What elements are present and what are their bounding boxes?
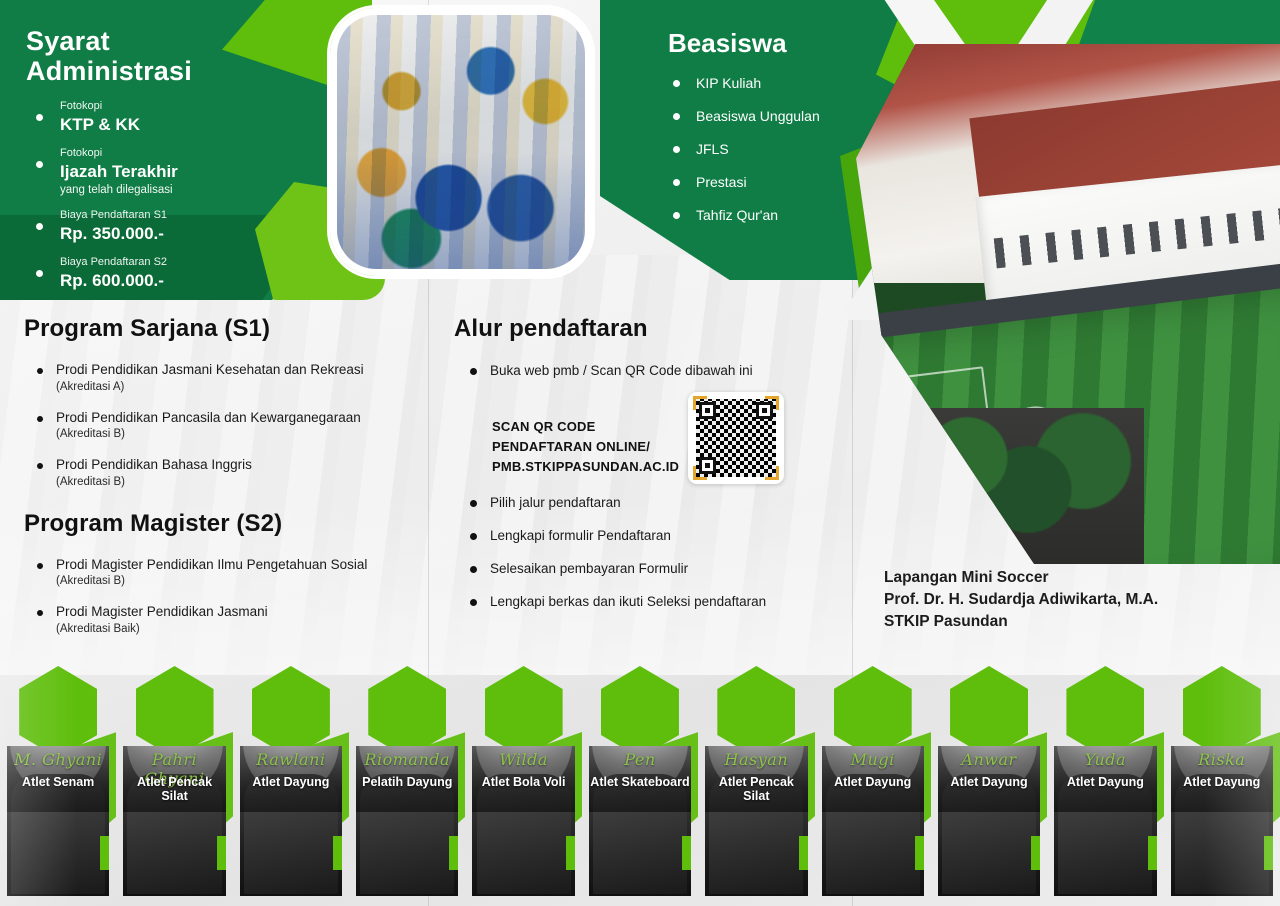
prodi-akreditasi: (Akreditasi Baik) [56, 623, 434, 635]
athlete-card: Rawlani Atlet Dayung [233, 660, 349, 906]
green-side-bar [333, 836, 342, 870]
athlete-photo: Pahri Ghyani Atlet Pencak Silat [123, 746, 225, 896]
list-item: Fotokopi KTP & KK [26, 100, 316, 136]
qr-bracket-top-left [693, 396, 707, 410]
athlete-photo: Riska Atlet Dayung [1171, 746, 1273, 896]
syarat-title: Syarat Administrasi [26, 26, 316, 86]
prodi-name: Prodi Magister Pendidikan Ilmu Pengetahu… [56, 556, 434, 574]
athlete-name: M. Ghyani [7, 750, 109, 769]
qr-label-line1: SCAN QR CODE [492, 417, 702, 437]
qr-label: SCAN QR CODE PENDAFTARAN ONLINE/ PMB.STK… [492, 417, 702, 476]
field-caption-line1: Lapangan Mini Soccer [884, 567, 1244, 589]
athlete-card: Pen Atlet Skateboard [582, 660, 698, 906]
alur-first-step-list: Buka web pmb / Scan QR Code dibawah ini [454, 363, 854, 378]
athlete-role: Atlet Pencak Silat [123, 775, 225, 803]
athlete-name: Mugi [822, 750, 924, 769]
qr-code-image[interactable] [688, 392, 784, 484]
syarat-item-note: yang telah dilegalisasi [60, 183, 316, 198]
list-item: Prodi Magister Pendidikan Ilmu Pengetahu… [24, 556, 434, 588]
list-item: Lengkapi berkas dan ikuti Seleksi pendaf… [454, 594, 854, 609]
prodi-akreditasi: (Akreditasi B) [56, 476, 434, 488]
athletes-collage-photo [330, 8, 592, 276]
athlete-photo: Wilda Atlet Bola Voli [472, 746, 574, 896]
alur-title: Alur pendaftaran [454, 315, 854, 343]
field-caption-line3: STKIP Pasundan [884, 611, 1244, 633]
athlete-card: Wilda Atlet Bola Voli [465, 660, 581, 906]
athlete-role: Atlet Senam [7, 775, 109, 789]
qr-label-line3: PMB.STKIPPASUNDAN.AC.ID [492, 457, 702, 477]
syarat-item-value: Rp. 350.000.- [60, 223, 316, 245]
syarat-list: Fotokopi KTP & KK Fotokopi Ijazah Terakh… [26, 100, 316, 291]
qr-bracket-bottom-right [765, 466, 779, 480]
athlete-name: Hasyan [705, 750, 807, 769]
green-side-bar [1148, 836, 1157, 870]
green-side-bar [682, 836, 691, 870]
athlete-card: Pahri Ghyani Atlet Pencak Silat [116, 660, 232, 906]
green-side-bar [566, 836, 575, 870]
athlete-photo: Anwar Atlet Dayung [938, 746, 1040, 896]
athlete-name: Wilda [472, 750, 574, 769]
athlete-name: Anwar [938, 750, 1040, 769]
list-item: Prodi Pendidikan Jasmani Kesehatan dan R… [24, 361, 434, 393]
athlete-card: Hasyan Atlet Pencak Silat [698, 660, 814, 906]
qr-bracket-top-right [765, 396, 779, 410]
syarat-item-value: Ijazah Terakhir [60, 161, 316, 183]
green-side-bar [217, 836, 226, 870]
list-item: Fotokopi Ijazah Terakhir yang telah dile… [26, 147, 316, 198]
prodi-name: Prodi Pendidikan Bahasa Inggris [56, 456, 434, 474]
athlete-strip: M. Ghyani Atlet Senam Pahri Ghyani Atlet… [0, 660, 1280, 906]
field-caption-line2: Prof. Dr. H. Sudardja Adiwikarta, M.A. [884, 589, 1244, 611]
athlete-photo: Pen Atlet Skateboard [589, 746, 691, 896]
athlete-photo: Hasyan Atlet Pencak Silat [705, 746, 807, 896]
athlete-photo: Yuda Atlet Dayung [1054, 746, 1156, 896]
qr-label-line2: PENDAFTARAN ONLINE/ [492, 437, 702, 457]
syarat-item-value: Rp. 600.000.- [60, 270, 316, 292]
programs-column: Program Sarjana (S1) Prodi Pendidikan Ja… [24, 315, 434, 651]
list-item: Lengkapi formulir Pendaftaran [454, 528, 854, 543]
prodi-name: Prodi Magister Pendidikan Jasmani [56, 603, 434, 621]
program-sarjana-list: Prodi Pendidikan Jasmani Kesehatan dan R… [24, 361, 434, 488]
list-item: Prodi Pendidikan Bahasa Inggris (Akredit… [24, 456, 434, 488]
athlete-card: Mugi Atlet Dayung [815, 660, 931, 906]
prodi-akreditasi: (Akreditasi B) [56, 575, 434, 587]
prodi-name: Prodi Pendidikan Jasmani Kesehatan dan R… [56, 361, 434, 379]
syarat-administrasi-section: Syarat Administrasi Fotokopi KTP & KK Fo… [26, 26, 316, 303]
list-item: Biaya Pendaftaran S2 Rp. 600.000.- [26, 256, 316, 292]
syarat-title-line2: Administrasi [26, 56, 316, 86]
syarat-item-label: Fotokopi [60, 147, 316, 161]
athlete-role: Atlet Dayung [938, 775, 1040, 789]
athlete-photo: Riomanda Pelatih Dayung [356, 746, 458, 896]
athlete-role: Pelatih Dayung [356, 775, 458, 789]
field-caption: Lapangan Mini Soccer Prof. Dr. H. Sudard… [884, 567, 1244, 633]
green-side-bar [449, 836, 458, 870]
athlete-name: Riomanda [356, 750, 458, 769]
alur-steps-list: Pilih jalur pendaftaran Lengkapi formuli… [454, 495, 854, 627]
list-item: Prodi Pendidikan Pancasila dan Kewargane… [24, 409, 434, 441]
green-side-bar [1264, 836, 1273, 870]
athlete-role: Atlet Bola Voli [472, 775, 574, 789]
list-item: Buka web pmb / Scan QR Code dibawah ini [454, 363, 854, 378]
athlete-card: Riska Atlet Dayung [1164, 660, 1280, 906]
program-magister-title: Program Magister (S2) [24, 510, 434, 538]
alur-pendaftaran-column: Alur pendaftaran Buka web pmb / Scan QR … [454, 315, 854, 399]
athlete-card: Yuda Atlet Dayung [1047, 660, 1163, 906]
list-item: Pilih jalur pendaftaran [454, 495, 854, 510]
green-side-bar [799, 836, 808, 870]
prodi-name: Prodi Pendidikan Pancasila dan Kewargane… [56, 409, 434, 427]
athlete-photo: M. Ghyani Atlet Senam [7, 746, 109, 896]
athlete-role: Atlet Dayung [822, 775, 924, 789]
qr-bracket-bottom-left [693, 466, 707, 480]
athlete-role: Atlet Dayung [240, 775, 342, 789]
athlete-card: Riomanda Pelatih Dayung [349, 660, 465, 906]
athlete-card: Anwar Atlet Dayung [931, 660, 1047, 906]
athlete-name: Rawlani [240, 750, 342, 769]
syarat-item-value: KTP & KK [60, 114, 316, 136]
brochure-page: Syarat Administrasi Fotokopi KTP & KK Fo… [0, 0, 1280, 906]
green-side-bar [1031, 836, 1040, 870]
syarat-item-label: Biaya Pendaftaran S1 [60, 209, 316, 223]
athlete-name: Riska [1171, 750, 1273, 769]
syarat-title-line1: Syarat [26, 26, 316, 56]
prodi-akreditasi: (Akreditasi A) [56, 381, 434, 393]
syarat-item-label: Fotokopi [60, 100, 316, 114]
athlete-card: M. Ghyani Atlet Senam [0, 660, 116, 906]
athlete-role: Atlet Pencak Silat [705, 775, 807, 803]
athlete-photo: Rawlani Atlet Dayung [240, 746, 342, 896]
athlete-role: Atlet Dayung [1171, 775, 1273, 789]
list-item: Selesaikan pembayaran Formulir [454, 561, 854, 576]
athlete-name: Pen [589, 750, 691, 769]
athlete-name: Yuda [1054, 750, 1156, 769]
list-item: Biaya Pendaftaran S1 Rp. 350.000.- [26, 209, 316, 245]
program-magister-list: Prodi Magister Pendidikan Ilmu Pengetahu… [24, 556, 434, 635]
prodi-akreditasi: (Akreditasi B) [56, 428, 434, 440]
athlete-role: Atlet Dayung [1054, 775, 1156, 789]
syarat-item-label: Biaya Pendaftaran S2 [60, 256, 316, 270]
green-side-bar [100, 836, 109, 870]
qr-code-block: SCAN QR CODE PENDAFTARAN ONLINE/ PMB.STK… [492, 412, 852, 504]
athlete-role: Atlet Skateboard [589, 775, 691, 789]
athlete-photo: Mugi Atlet Dayung [822, 746, 924, 896]
list-item: Prodi Magister Pendidikan Jasmani (Akred… [24, 603, 434, 635]
green-side-bar [915, 836, 924, 870]
program-sarjana-title: Program Sarjana (S1) [24, 315, 434, 343]
